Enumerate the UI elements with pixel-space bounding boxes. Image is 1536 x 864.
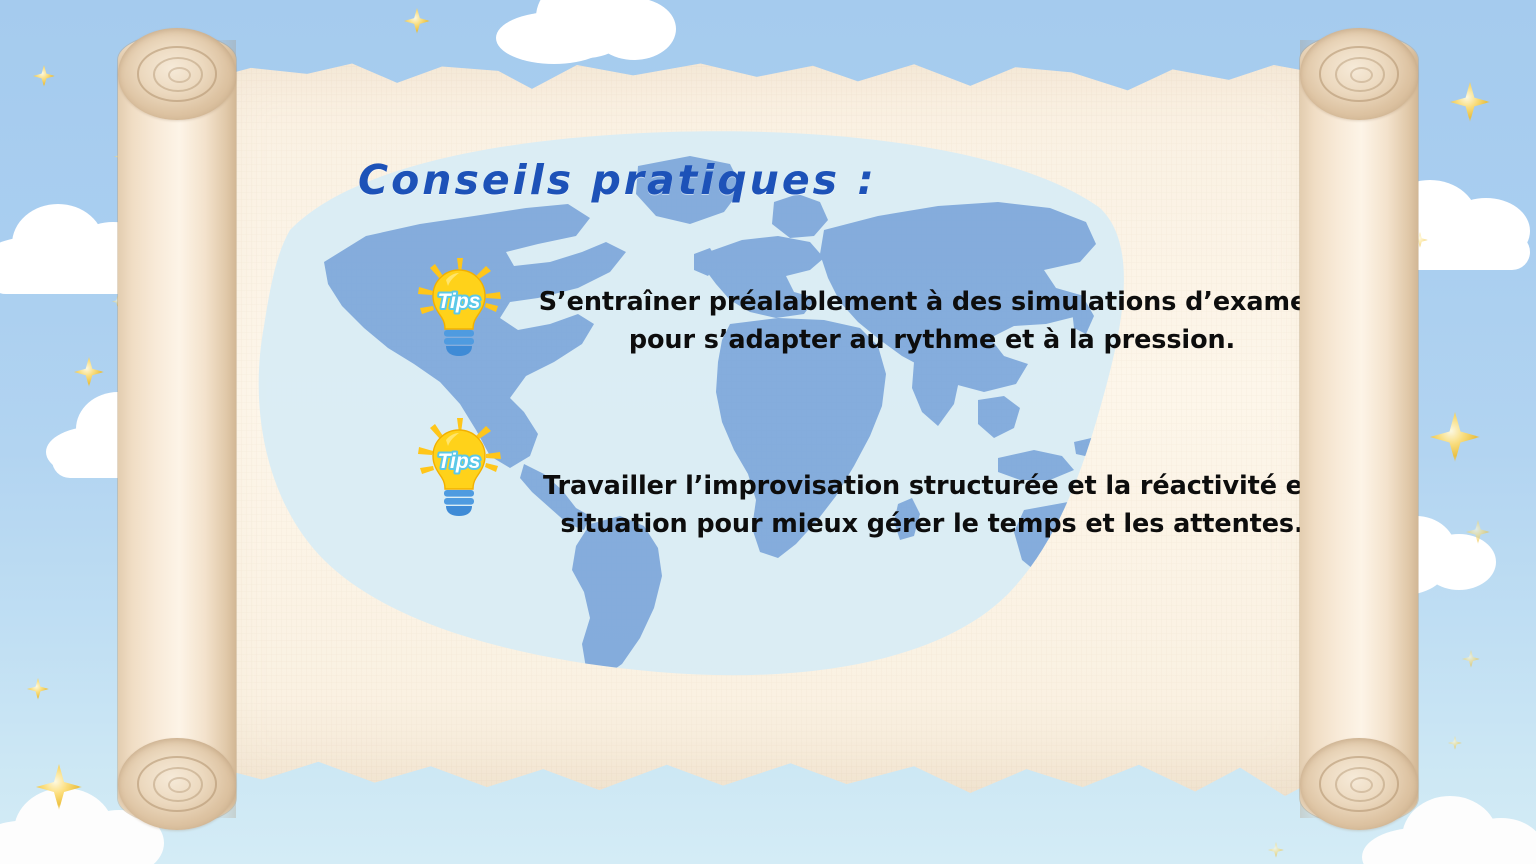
scroll-roll-left: [118, 34, 236, 824]
tips-icon-label: Tips: [438, 450, 481, 473]
glitter-star-icon: [1448, 736, 1462, 750]
tips-lightbulb-icon: Tips Tips: [416, 256, 502, 360]
glitter-star-icon: [74, 357, 104, 387]
slide-canvas: Conseils pratiques :: [0, 0, 1536, 864]
parchment-scroll: Conseils pratiques :: [118, 34, 1418, 824]
glitter-star-icon: [404, 8, 430, 34]
scroll-roll-right: [1300, 34, 1418, 824]
glitter-star-icon: [1430, 412, 1480, 462]
glitter-star-icon: [27, 678, 49, 700]
tips-icon-label: Tips: [438, 290, 481, 313]
glitter-star-icon: [1462, 650, 1480, 668]
glitter-star-icon: [33, 65, 55, 87]
scroll-spiral-icon: [1300, 738, 1418, 830]
tip-text: S’entraîner préalablement à des simulati…: [522, 284, 1342, 359]
scroll-spiral-icon: [1300, 28, 1418, 120]
glitter-star-icon: [1268, 842, 1284, 858]
scroll-content: Conseils pratiques :: [206, 56, 1330, 802]
glitter-star-icon: [36, 764, 82, 810]
tip-item: Tips Tips S’entraîner préalablement à de…: [416, 256, 1376, 360]
page-title: Conseils pratiques :: [358, 156, 877, 204]
glitter-star-icon: [1466, 520, 1490, 544]
tip-item: Tips Tips Travailler l’improvisation str…: [416, 416, 1376, 543]
glitter-star-icon: [1450, 82, 1490, 122]
tip-text: Travailler l’improvisation structurée et…: [522, 468, 1342, 543]
scroll-spiral-icon: [118, 28, 236, 120]
tips-lightbulb-icon: Tips Tips: [416, 416, 502, 520]
scroll-spiral-icon: [118, 738, 236, 830]
